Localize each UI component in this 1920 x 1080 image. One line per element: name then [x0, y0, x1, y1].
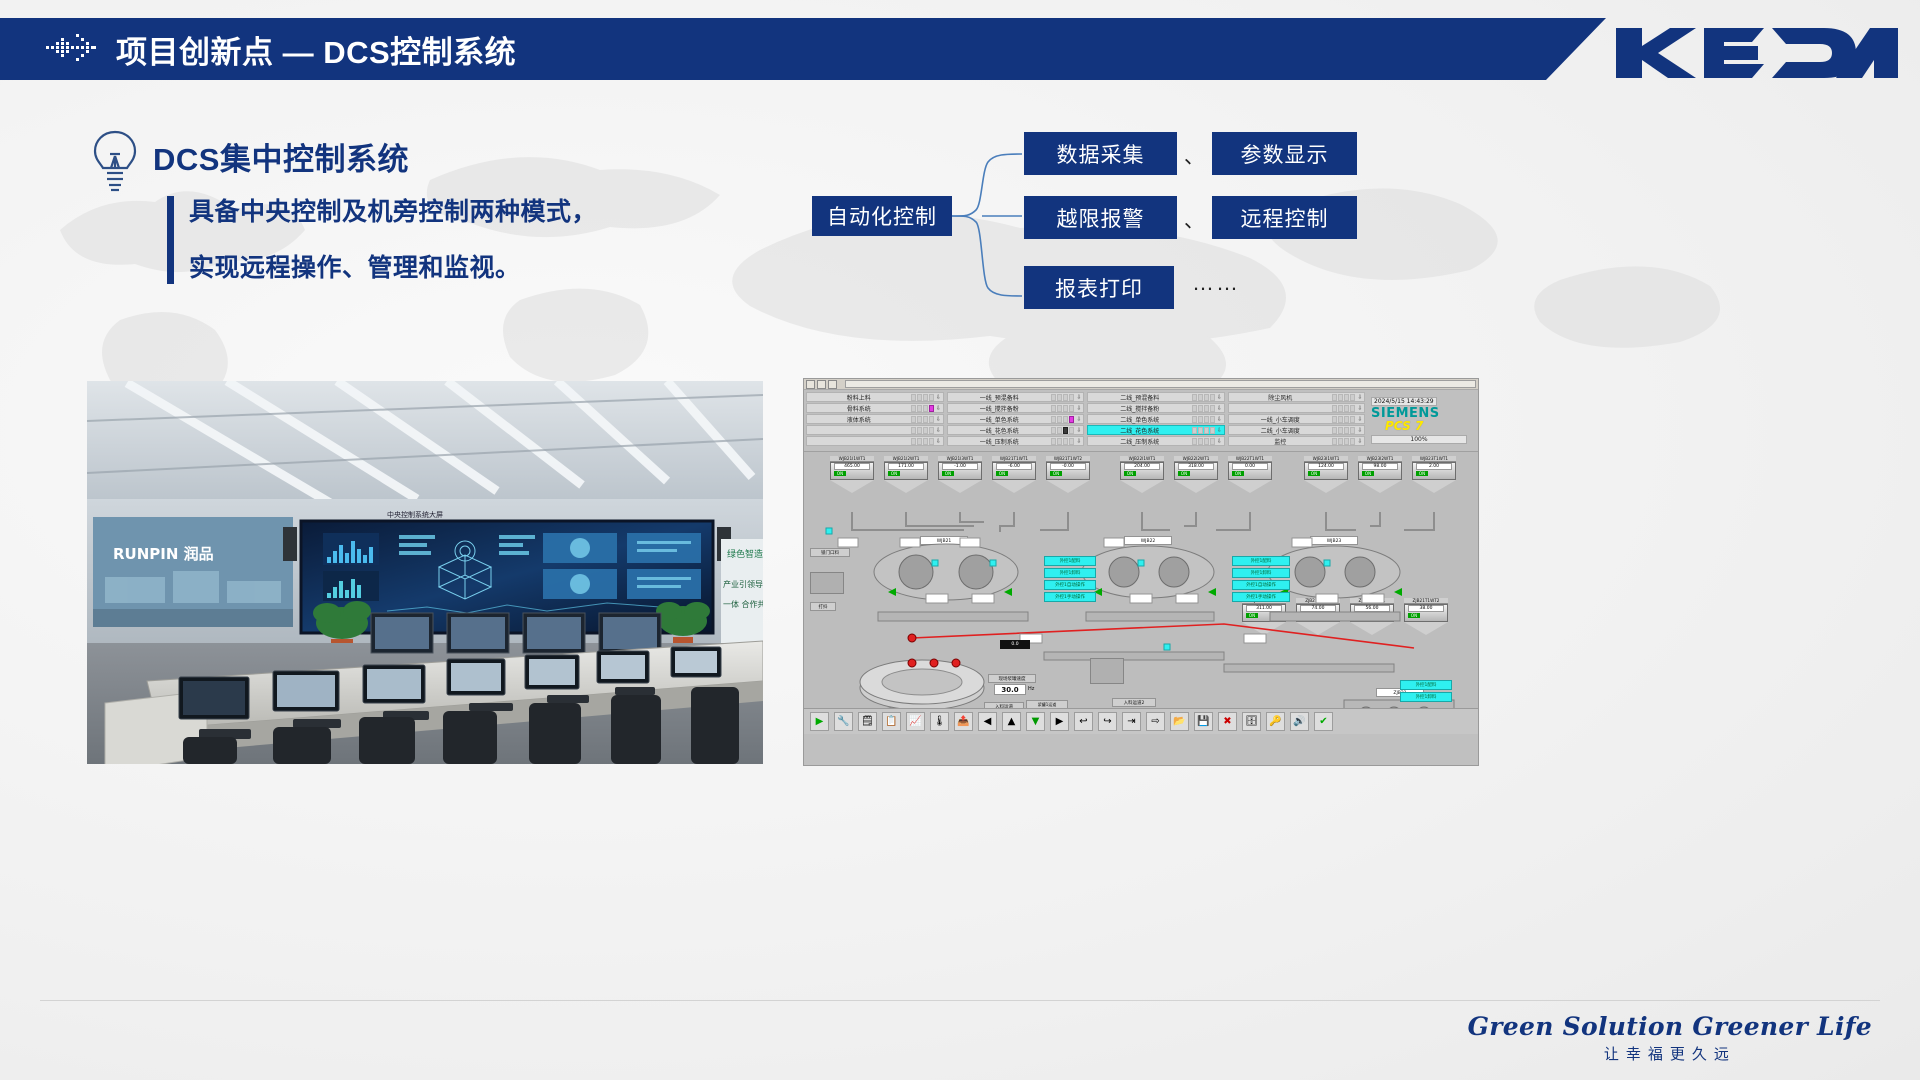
hmi-menu-label: 二线_预混备料 — [1088, 393, 1192, 402]
hmi-menu-item[interactable]: ⇩ — [1228, 403, 1366, 413]
hmi-menu-item[interactable]: 二线_搅拌备粉 ⇩ — [1087, 403, 1225, 413]
archive-icon[interactable]: 🗄 — [1242, 712, 1261, 731]
hmi-menu-cells — [1332, 416, 1355, 423]
hmi-print-label[interactable]: 打抖 — [810, 602, 836, 611]
hmi-menu-cells — [911, 427, 934, 434]
hmi-tank-box[interactable] — [1090, 658, 1124, 684]
hmi-menu-cells — [911, 438, 934, 445]
hmi-menu-arrow-icon[interactable]: ⇩ — [1075, 416, 1083, 423]
save-icon[interactable]: 💾 — [1194, 712, 1213, 731]
slide-header-bar: 项目创新点 — DCS控制系统 — [0, 18, 1606, 80]
diagram-node-limit-alarm[interactable]: 越限报警 — [1024, 196, 1177, 239]
hmi-menu-arrow-icon[interactable]: ⇩ — [1075, 438, 1083, 445]
hmi-menu-arrow-icon[interactable]: ⇩ — [935, 394, 943, 401]
hmi-menu-item[interactable]: 一线_搅拌备粉 ⇩ — [947, 403, 1085, 413]
hmi-toolbar: ▶ 🔧 🗒 📋 📈 🌡 📤 ◀ ▲ ▼ ▶ ↩ ↪ ⇥ ⇨ 📂 💾 ✖ 🗄 � — [804, 708, 1478, 734]
hmi-menu-cells — [1192, 438, 1215, 445]
hmi-brand-panel: 2024/5/15 14:43:29 SIEMENS PCS 7 100% — [1368, 392, 1476, 449]
hmi-op-button[interactable]: 外控1卸料 — [1044, 568, 1096, 578]
note-icon[interactable]: 🗒 — [858, 712, 877, 731]
svg-text:绿色智造: 绿色智造 — [727, 548, 763, 560]
hmi-menu-label: 一线_小车调度 — [1229, 415, 1333, 424]
hmi-menu-label: 监控 — [1229, 437, 1333, 446]
hmi-menu-arrow-icon[interactable]: ⇩ — [1075, 405, 1083, 412]
sound-icon[interactable]: 🔊 — [1290, 712, 1309, 731]
hmi-op-button[interactable]: 外控1自动操作 — [1232, 580, 1290, 590]
body-line-2: 实现远程操作、管理和监视。 — [189, 252, 597, 284]
hmi-menu-item[interactable]: 一线_压制系统 ⇩ — [947, 436, 1085, 446]
hmi-menu-arrow-icon[interactable]: ⇩ — [1356, 405, 1364, 412]
hmi-path-field[interactable] — [845, 380, 1476, 388]
hmi-menu-item[interactable]: 骨料系统 ⇩ — [806, 403, 944, 413]
hmi-menu-item[interactable]: 除尘风机 ⇩ — [1228, 392, 1366, 402]
hmi-menu-label: 二线_搅拌备粉 — [1088, 404, 1192, 413]
diagram-node-remote-control[interactable]: 远程控制 — [1212, 196, 1357, 239]
hmi-menu-cells — [1192, 405, 1215, 412]
hmi-menu-arrow-icon[interactable]: ⇩ — [1075, 427, 1083, 434]
hmi-menu-item[interactable]: 监控 ⇩ — [1228, 436, 1366, 446]
hmi-menu-arrow-icon[interactable]: ⇩ — [1075, 394, 1083, 401]
footer-brand: Green Solution Greener Life 让幸福更久远 — [1468, 1012, 1872, 1064]
hmi-menu-arrow-icon[interactable]: ⇩ — [935, 438, 943, 445]
ellipsis-label: …… — [1192, 270, 1240, 296]
hmi-menu-cells — [911, 405, 934, 412]
hmi-datetime: 2024/5/15 14:43:29 — [1371, 397, 1437, 406]
hmi-op-button[interactable]: 外控1配料 — [1044, 556, 1096, 566]
key-icon[interactable]: 🔑 — [1266, 712, 1285, 731]
hmi-op-button[interactable]: 外控1配料 — [1400, 680, 1452, 690]
hmi-menu-label: 一线_单色系统 — [948, 415, 1052, 424]
hmi-menu-item[interactable]: 二线_压制系统 ⇩ — [1087, 436, 1225, 446]
hmi-menu-item-selected[interactable]: 二线_花色系统 ⇩ — [1087, 425, 1225, 435]
separator-2: 、 — [1184, 204, 1204, 233]
export-icon[interactable]: 📤 — [954, 712, 973, 731]
keda-logo — [1612, 16, 1902, 82]
hmi-menu-arrow-icon[interactable]: ⇩ — [1216, 438, 1224, 445]
hmi-window-topbar — [804, 379, 1478, 390]
hmi-menu-arrow-icon[interactable]: ⇩ — [1216, 416, 1224, 423]
thermometer-icon[interactable]: 🌡 — [930, 712, 949, 731]
arrow-up-icon[interactable]: ▲ — [1002, 712, 1021, 731]
hmi-op-button[interactable]: 外控1手动操作 — [1044, 592, 1096, 602]
forward-icon[interactable]: ⇨ — [1146, 712, 1165, 731]
hmi-menu-item[interactable]: ⇩ — [806, 436, 944, 446]
footer-slogan-cn: 让幸福更久远 — [1468, 1043, 1872, 1064]
footer-slogan-en: Green Solution Greener Life — [1468, 1012, 1872, 1041]
diagram-node-root[interactable]: 自动化控制 — [812, 196, 952, 236]
hmi-door-label: 锁门口料 — [810, 548, 850, 557]
hmi-open-button[interactable] — [806, 380, 815, 389]
separator-1: 、 — [1184, 140, 1204, 169]
hmi-menu-column-1: 粉料上料 ⇩ 骨料系统 ⇩ 液体系统 ⇩ ⇩ ⇩ — [806, 392, 944, 449]
hmi-speed-title: 现场浆罐速度 — [988, 674, 1036, 683]
hmi-menu-label: 一线_花色系统 — [948, 426, 1052, 435]
hmi-menu-cells — [1332, 394, 1355, 401]
hmi-menu-cells — [1051, 427, 1074, 434]
hmi-menu-arrow-icon[interactable]: ⇩ — [1216, 394, 1224, 401]
hmi-menu-column-3: 二线_预混备料 ⇩ 二线_搅拌备粉 ⇩ 二线_单色系统 ⇩ 二线_花色系统 ⇩ … — [1087, 392, 1225, 449]
hmi-op-button[interactable]: 外控1卸料 — [1232, 568, 1290, 578]
hmi-equipment-box[interactable] — [810, 572, 844, 594]
hmi-op-button[interactable]: 外控1卸料 — [1400, 692, 1452, 702]
hmi-menu-cells — [1051, 416, 1074, 423]
lightbulb-icon — [88, 128, 142, 194]
diagram-node-parameter-display[interactable]: 参数显示 — [1212, 132, 1357, 175]
hmi-entry-label-3[interactable]: 入料运道2 — [1112, 698, 1156, 707]
hmi-menu-label: 二线_小车调度 — [1229, 426, 1333, 435]
hmi-piping-overlay — [804, 452, 1479, 734]
hmi-op-button[interactable]: 外控1配料 — [1232, 556, 1290, 566]
hmi-menu-label: 一线_搅拌备粉 — [948, 404, 1052, 413]
hmi-menu-label: 二线_压制系统 — [1088, 437, 1192, 446]
hmi-menu-cells — [1192, 394, 1215, 401]
hmi-speed-value[interactable]: 30.0 — [994, 684, 1026, 695]
hmi-menu-item[interactable]: 二线_单色系统 ⇩ — [1087, 414, 1225, 424]
body-line-1: 具备中央控制及机旁控制两种模式， — [189, 196, 597, 228]
hmi-menu-label: 一线_压制系统 — [948, 437, 1052, 446]
hmi-menu-column-2: 一线_预混备料 ⇩ 一线_搅拌备粉 ⇩ 一线_单色系统 ⇩ 一线_花色系统 ⇩ … — [947, 392, 1085, 449]
trend-icon[interactable]: 📈 — [906, 712, 925, 731]
hmi-menu-label: 粉料上料 — [807, 393, 911, 402]
hmi-flow-value: 0.0 — [1000, 640, 1030, 649]
svg-text:一体 合作共赢: 一体 合作共赢 — [723, 599, 763, 609]
hmi-menu-item[interactable]: 一线_预混备料 ⇩ — [947, 392, 1085, 402]
hmi-menu-cells — [1332, 427, 1355, 434]
diagram-node-report-printing[interactable]: 报表打印 — [1024, 266, 1174, 309]
slide-root: 项目创新点 — DCS控制系统 DCS集中控 — [0, 0, 1920, 1080]
hmi-menu-cells — [1051, 405, 1074, 412]
hmi-menu-arrow-icon[interactable]: ⇩ — [1216, 405, 1224, 412]
hmi-menu-arrow-icon[interactable]: ⇩ — [935, 405, 943, 412]
hmi-op-button[interactable]: 外控1自动操作 — [1044, 580, 1096, 590]
hmi-process-canvas[interactable]: WJB21I1WT1 465.00 ON WJB21I2WT1 171.00 O… — [804, 452, 1478, 734]
hmi-dropdown-button[interactable] — [828, 380, 837, 389]
hmi-menu-cells — [1332, 438, 1355, 445]
hmi-menu-cells — [1192, 416, 1215, 423]
delete-icon[interactable]: ✖ — [1218, 712, 1237, 731]
ack-all-icon[interactable]: ✔ — [1314, 712, 1333, 731]
hmi-menu-item[interactable]: ⇩ — [806, 425, 944, 435]
svg-text:产业引领导向: 产业引领导向 — [723, 579, 763, 589]
hmi-menu-cells — [1332, 405, 1355, 412]
hmi-status-value: 100% — [1371, 435, 1467, 444]
hmi-menu-arrow-icon[interactable]: ⇩ — [1216, 427, 1224, 434]
hmi-menu-cells — [911, 416, 934, 423]
hmi-product-label: PCS 7 — [1385, 419, 1423, 433]
hmi-menu-label: 液体系统 — [807, 415, 911, 424]
arrow-right-icon[interactable]: ▶ — [1050, 712, 1069, 731]
folder-icon[interactable]: 📂 — [1170, 712, 1189, 731]
hmi-menu-arrow-icon[interactable]: ⇩ — [935, 427, 943, 434]
svg-text:RUNPIN 润品: RUNPIN 润品 — [113, 545, 214, 563]
redo-icon[interactable]: ↪ — [1098, 712, 1117, 731]
section-heading: DCS集中控制系统 — [153, 134, 409, 179]
hmi-menu-arrow-icon[interactable]: ⇩ — [1356, 438, 1364, 445]
footer-divider — [40, 1000, 1880, 1001]
hmi-menu-cells — [1051, 394, 1074, 401]
hmi-speed-unit: Hz — [1028, 686, 1034, 692]
arrow-dots-icon — [46, 32, 102, 66]
hmi-menu-label: 一线_预混备料 — [948, 393, 1052, 402]
automation-control-diagram: 自动化控制 数据采集 参数显示 越限报警 远程控制 报表打印 、 、 …… — [812, 118, 1372, 333]
hmi-menu-label: 骨料系统 — [807, 404, 911, 413]
page-title: 项目创新点 — DCS控制系统 — [116, 27, 516, 72]
undo-icon[interactable]: ↩ — [1074, 712, 1093, 731]
hmi-menu-label: 除尘风机 — [1229, 393, 1333, 402]
report-icon[interactable]: 📋 — [882, 712, 901, 731]
hmi-alarm-button[interactable] — [817, 380, 826, 389]
hmi-op-button[interactable]: 外控1手动操作 — [1232, 592, 1290, 602]
play-icon[interactable]: ▶ — [810, 712, 829, 731]
hmi-menu-item[interactable]: 二线_预混备料 ⇩ — [1087, 392, 1225, 402]
next-page-icon[interactable]: ⇥ — [1122, 712, 1141, 731]
control-room-photo: RUNPIN 润品 中央控制系统大屏 — [87, 381, 763, 764]
arrow-left-icon[interactable]: ◀ — [978, 712, 997, 731]
hmi-menu-item[interactable]: 一线_花色系统 ⇩ — [947, 425, 1085, 435]
hmi-menu-item[interactable]: 液体系统 ⇩ — [806, 414, 944, 424]
section-body: 具备中央控制及机旁控制两种模式， 实现远程操作、管理和监视。 — [167, 196, 597, 284]
hmi-menu-item[interactable]: 一线_小车调度 ⇩ — [1228, 414, 1366, 424]
hmi-menu-column-4: 除尘风机 ⇩ ⇩ 一线_小车调度 ⇩ 二线_小车调度 ⇩ 监控 ⇩ — [1228, 392, 1366, 449]
wrench-icon[interactable]: 🔧 — [834, 712, 853, 731]
hmi-scada-screenshot[interactable]: 粉料上料 ⇩ 骨料系统 ⇩ 液体系统 ⇩ ⇩ ⇩ — [803, 378, 1479, 766]
hmi-menu-cells — [1051, 438, 1074, 445]
hmi-menu-arrow-icon[interactable]: ⇩ — [1356, 394, 1364, 401]
bracket-connector — [952, 118, 1027, 333]
arrow-down-icon[interactable]: ▼ — [1026, 712, 1045, 731]
hmi-menu-label: 二线_花色系统 — [1088, 426, 1192, 435]
hmi-menu-arrow-icon[interactable]: ⇩ — [1356, 427, 1364, 434]
hmi-menu-item[interactable]: 粉料上料 ⇩ — [806, 392, 944, 402]
diagram-node-data-acquisition[interactable]: 数据采集 — [1024, 132, 1177, 175]
svg-text:中央控制系统大屏: 中央控制系统大屏 — [387, 510, 443, 519]
hmi-menu-item[interactable]: 一线_单色系统 ⇩ — [947, 414, 1085, 424]
hmi-menu-panel: 粉料上料 ⇩ 骨料系统 ⇩ 液体系统 ⇩ ⇩ ⇩ — [804, 390, 1478, 452]
hmi-menu-arrow-icon[interactable]: ⇩ — [935, 416, 943, 423]
hmi-menu-item[interactable]: 二线_小车调度 ⇩ — [1228, 425, 1366, 435]
hmi-menu-cells — [1192, 427, 1215, 434]
keda-logo-mark — [1612, 16, 1902, 82]
hmi-menu-arrow-icon[interactable]: ⇩ — [1356, 416, 1364, 423]
control-room-illustration: RUNPIN 润品 中央控制系统大屏 — [87, 381, 763, 764]
hmi-menu-cells — [911, 394, 934, 401]
hmi-menu-label: 二线_单色系统 — [1088, 415, 1192, 424]
